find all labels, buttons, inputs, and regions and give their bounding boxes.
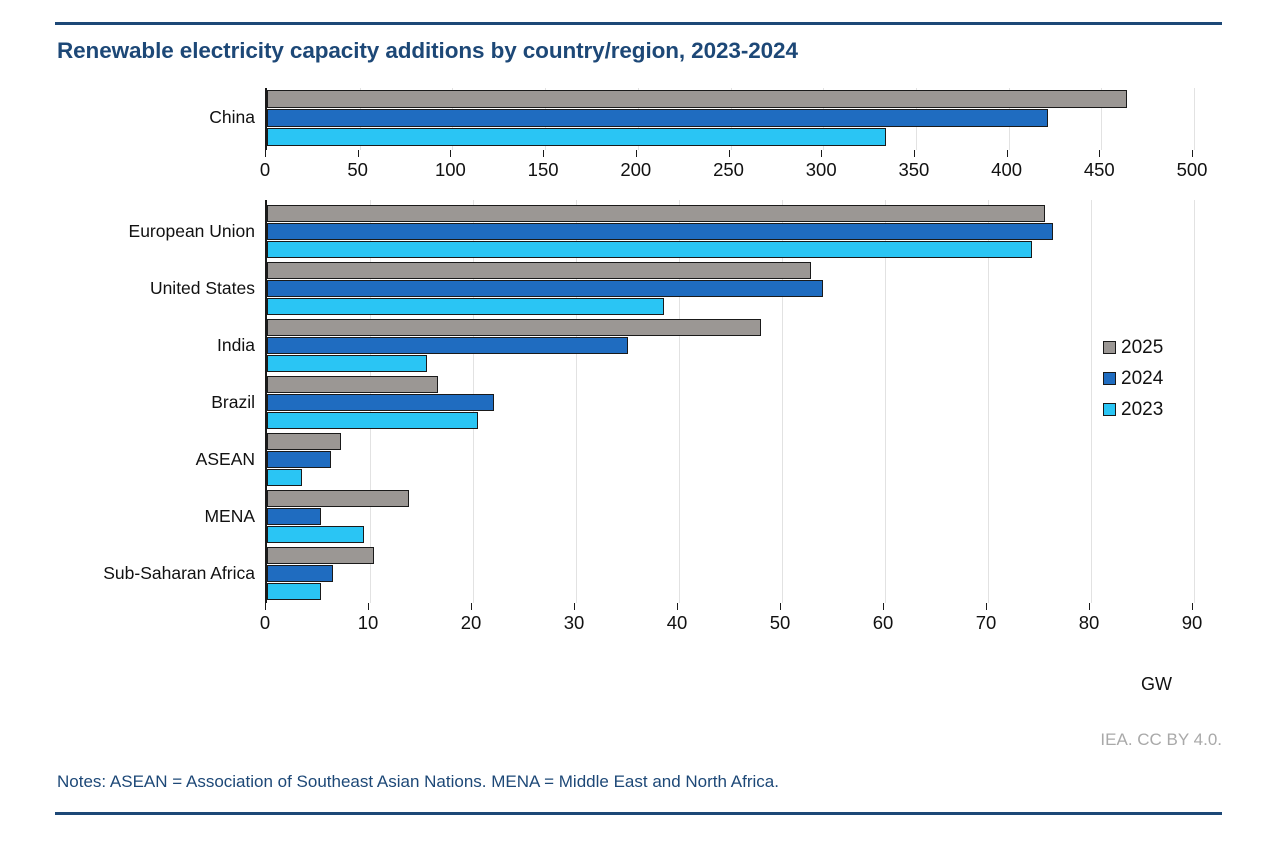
bar-2025[interactable] <box>267 319 761 336</box>
axis-tick <box>265 150 266 157</box>
bar-2025[interactable] <box>267 90 1127 108</box>
bar-2023[interactable] <box>267 128 886 146</box>
axis-tick <box>677 603 678 610</box>
category-group: Sub-Saharan Africa <box>267 547 1192 604</box>
bar-2023[interactable] <box>267 355 427 372</box>
top-chart-panel: China 050100150200250300350400450500 <box>0 88 1280 168</box>
legend-swatch-2023 <box>1103 403 1116 416</box>
bottom-chart-panel: European UnionUnited StatesIndiaBrazilAS… <box>0 200 1280 615</box>
category-label: United States <box>150 280 255 298</box>
gridline <box>1194 88 1195 150</box>
bar-2024[interactable] <box>267 337 628 354</box>
axis-tick-label: 20 <box>461 612 482 634</box>
axis-tick-label: 350 <box>898 159 929 181</box>
bottom-x-axis: 0102030405060708090 <box>265 603 1192 637</box>
bar-2025[interactable] <box>267 490 409 507</box>
axis-tick <box>883 603 884 610</box>
category-label: Sub-Saharan Africa <box>103 565 255 583</box>
legend-item-2023[interactable]: 2023 <box>1103 394 1213 425</box>
axis-tick-label: 200 <box>620 159 651 181</box>
axis-tick <box>1007 150 1008 157</box>
axis-tick <box>368 603 369 610</box>
axis-tick <box>1089 603 1090 610</box>
chart-page: Renewable electricity capacity additions… <box>0 0 1280 848</box>
axis-tick-label: 500 <box>1177 159 1208 181</box>
bottom-plot-area: European UnionUnited StatesIndiaBrazilAS… <box>265 200 1192 603</box>
axis-tick-label: 30 <box>564 612 585 634</box>
axis-tick-label: 150 <box>528 159 559 181</box>
axis-tick-label: 0 <box>260 159 270 181</box>
top-divider-rule <box>55 22 1222 25</box>
category-label: Brazil <box>211 394 255 412</box>
bar-2025[interactable] <box>267 547 374 564</box>
bar-2023[interactable] <box>267 241 1032 258</box>
axis-tick <box>729 150 730 157</box>
category-group: China <box>267 90 1192 150</box>
bar-2024[interactable] <box>267 394 494 411</box>
legend-item-2024[interactable]: 2024 <box>1103 363 1213 394</box>
axis-tick <box>821 150 822 157</box>
axis-tick <box>450 150 451 157</box>
axis-tick <box>986 603 987 610</box>
bottom-divider-rule <box>55 812 1222 815</box>
axis-tick <box>636 150 637 157</box>
bar-2025[interactable] <box>267 205 1045 222</box>
page-title: Renewable electricity capacity additions… <box>57 38 798 64</box>
category-label: China <box>209 109 255 127</box>
bar-2024[interactable] <box>267 109 1048 127</box>
top-plot-area: China <box>265 88 1192 150</box>
legend-label-2023: 2023 <box>1121 400 1163 419</box>
bar-2025[interactable] <box>267 433 341 450</box>
category-group: India <box>267 319 1192 376</box>
bar-2023[interactable] <box>267 583 321 600</box>
category-label: MENA <box>204 508 255 526</box>
category-group: MENA <box>267 490 1192 547</box>
axis-tick-label: 40 <box>667 612 688 634</box>
bar-2025[interactable] <box>267 262 811 279</box>
axis-tick-label: 70 <box>976 612 997 634</box>
category-group: European Union <box>267 205 1192 262</box>
axis-tick-label: 50 <box>347 159 368 181</box>
axis-tick-label: 50 <box>770 612 791 634</box>
axis-tick <box>914 150 915 157</box>
legend-item-2025[interactable]: 2025 <box>1103 332 1213 363</box>
axis-tick <box>358 150 359 157</box>
axis-tick-label: 100 <box>435 159 466 181</box>
axis-tick <box>1192 150 1193 157</box>
bar-2023[interactable] <box>267 469 302 486</box>
category-group: United States <box>267 262 1192 319</box>
top-x-axis: 050100150200250300350400450500 <box>265 150 1192 184</box>
bar-2024[interactable] <box>267 451 331 468</box>
chart-notes: Notes: ASEAN = Association of Southeast … <box>57 772 779 792</box>
axis-tick-label: 80 <box>1079 612 1100 634</box>
legend-swatch-2025 <box>1103 341 1116 354</box>
axis-tick <box>543 150 544 157</box>
bar-2023[interactable] <box>267 526 364 543</box>
category-group: ASEAN <box>267 433 1192 490</box>
legend: 2025 2024 2023 <box>1103 332 1213 425</box>
axis-tick <box>265 603 266 610</box>
category-group: Brazil <box>267 376 1192 433</box>
legend-label-2024: 2024 <box>1121 369 1163 388</box>
bar-2023[interactable] <box>267 298 664 315</box>
category-label: India <box>217 337 255 355</box>
axis-tick-label: 10 <box>358 612 379 634</box>
axis-tick-label: 450 <box>1084 159 1115 181</box>
iea-credit: IEA. CC BY 4.0. <box>1100 730 1222 750</box>
axis-tick <box>471 603 472 610</box>
axis-tick-label: 60 <box>873 612 894 634</box>
bar-2024[interactable] <box>267 223 1053 240</box>
axis-unit-label: GW <box>1141 674 1172 695</box>
bar-2024[interactable] <box>267 565 333 582</box>
axis-tick-label: 90 <box>1182 612 1203 634</box>
axis-tick-label: 0 <box>260 612 270 634</box>
bar-2023[interactable] <box>267 412 478 429</box>
category-label: European Union <box>129 223 255 241</box>
axis-tick <box>1192 603 1193 610</box>
axis-tick <box>1099 150 1100 157</box>
category-label: ASEAN <box>196 451 255 469</box>
axis-tick-label: 300 <box>806 159 837 181</box>
bar-2024[interactable] <box>267 508 321 525</box>
legend-swatch-2024 <box>1103 372 1116 385</box>
bar-2025[interactable] <box>267 376 438 393</box>
axis-tick <box>574 603 575 610</box>
axis-tick <box>780 603 781 610</box>
axis-tick-label: 250 <box>713 159 744 181</box>
axis-tick-label: 400 <box>991 159 1022 181</box>
bar-2024[interactable] <box>267 280 823 297</box>
legend-label-2025: 2025 <box>1121 338 1163 357</box>
